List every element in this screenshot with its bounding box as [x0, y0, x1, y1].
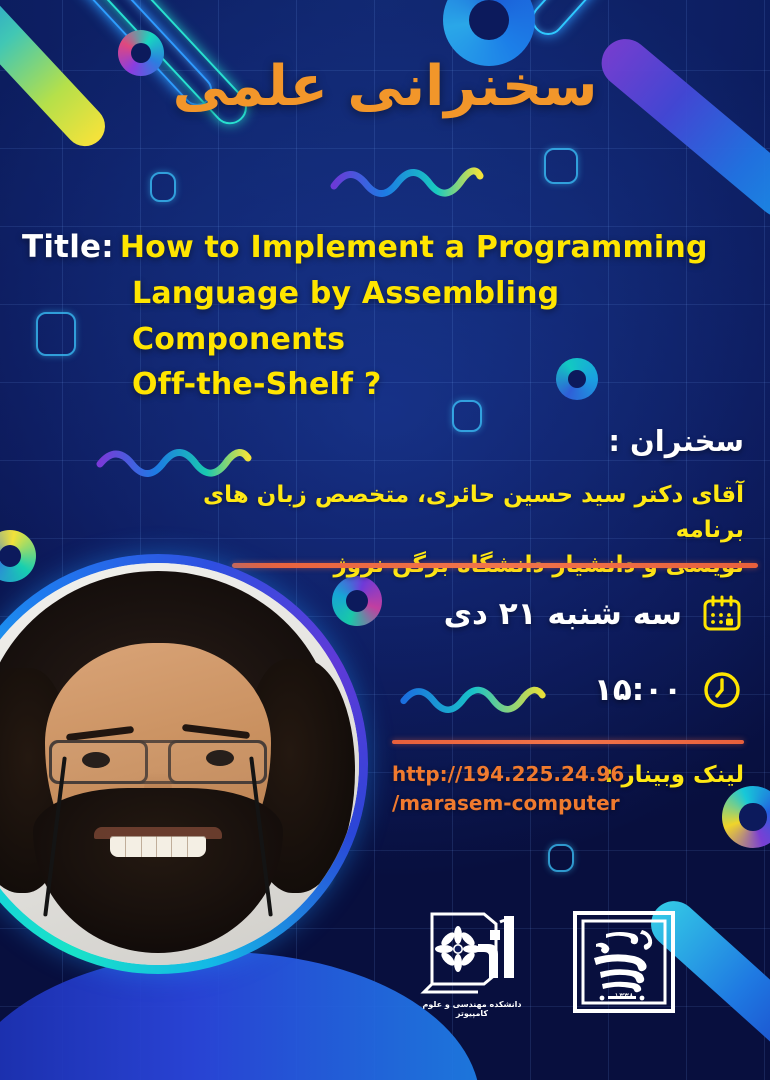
divider-rule-bottom — [392, 740, 744, 744]
poster-canvas: سخنرانی علمی Title:How to Implement a Pr… — [0, 0, 770, 1080]
date-row: سه شنبه ۲۱ دی — [444, 592, 744, 636]
webinar-url-line-1[interactable]: http://194.225.24.96 — [392, 762, 624, 786]
talk-title-line-3: Off-the-Shelf ? — [22, 362, 746, 408]
faculty-of-computer-science-engineering-logo: دانشکده مهندسی و علوم کامپیوتر — [412, 904, 532, 1018]
time-text: ۱۵:۰۰ — [594, 672, 682, 708]
university-founding-year: ۱۳۳۸ — [614, 992, 634, 1002]
shahid-beheshti-university-logo: ۱۳۳۸ — [572, 910, 680, 1014]
date-text: سه شنبه ۲۱ دی — [444, 596, 682, 632]
webinar-url-line-2[interactable]: /marasem-computer — [392, 789, 632, 818]
faculty-logo-caption: دانشکده مهندسی و علوم کامپیوتر — [412, 1000, 532, 1018]
talk-title-label: Title: — [22, 229, 114, 265]
talk-title-line-2: Language by Assembling Components — [22, 271, 746, 362]
talk-title-block: Title:How to Implement a Programming Lan… — [22, 224, 746, 408]
webinar-url[interactable]: http://194.225.24.96 /marasem-computer — [392, 760, 632, 818]
clock-icon — [700, 668, 744, 712]
time-row: ۱۵:۰۰ — [594, 668, 744, 712]
talk-title-text-1: How to Implement a Programming — [120, 230, 708, 265]
talk-title-line-1: Title:How to Implement a Programming — [22, 224, 746, 271]
poster-header-title: سخنرانی علمی — [0, 58, 770, 117]
calendar-icon — [700, 592, 744, 636]
speaker-line-1: آقای دکتر سید حسین حائری، متخصص زبان های… — [180, 478, 744, 548]
logo-row: دانشکده مهندسی و علوم کامپیوتر — [0, 898, 770, 1038]
speaker-label: سخنران : — [608, 424, 744, 458]
